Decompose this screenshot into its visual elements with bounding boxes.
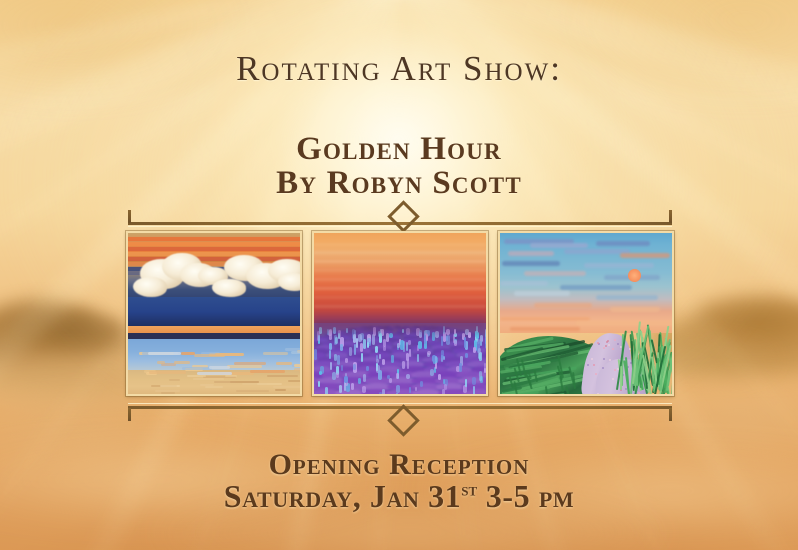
artwork-detail: [375, 346, 378, 352]
artwork-detail: [314, 296, 486, 299]
artwork-detail: [349, 347, 352, 356]
artwork-detail: [362, 386, 365, 393]
artwork-detail: [341, 365, 343, 371]
artwork-title: Golden Hour: [0, 131, 798, 168]
artwork-detail: [128, 242, 300, 246]
reception-time: 3-5 pm: [477, 478, 574, 514]
artwork-detail: [372, 334, 375, 345]
artwork-detail: [314, 251, 486, 254]
reception-heading: Opening Reception: [0, 448, 798, 482]
artwork-detail: [314, 305, 486, 308]
frame-tick-top-right: [669, 210, 672, 223]
artwork-detail: [332, 372, 336, 380]
frame-tick-bottom-left: [128, 408, 131, 421]
artwork-detail: [275, 389, 286, 391]
artwork-detail: [161, 392, 175, 394]
poster: Rotating Art Show: Golden Hour By Robyn …: [0, 0, 798, 550]
artwork-detail: [382, 389, 385, 394]
artwork-detail: [329, 343, 332, 350]
artwork-triptych: [126, 231, 674, 396]
artwork-panel-dune-path[interactable]: [498, 231, 674, 396]
artwork-detail: [314, 260, 486, 263]
artwork-detail: [620, 253, 670, 258]
artwork-detail: [530, 243, 588, 248]
reception-date-pre: Saturday, Jan 31: [224, 478, 462, 514]
artwork-detail: [408, 340, 411, 344]
artwork-detail: [597, 342, 599, 344]
artwork-detail: [340, 344, 343, 351]
artwork-detail: [472, 377, 476, 385]
artwork-detail: [480, 341, 482, 346]
artwork-detail: [335, 337, 337, 344]
artwork-detail: [424, 335, 426, 344]
artwork-detail: [182, 367, 212, 370]
artwork-detail: [484, 363, 486, 371]
artwork-detail: [396, 393, 399, 394]
artwork-detail: [608, 344, 610, 346]
artwork-detail: [314, 243, 486, 246]
artwork-detail: [148, 352, 182, 355]
reception-date-ordinal: st: [461, 479, 477, 499]
artwork-detail: [314, 269, 486, 272]
artwork-detail: [609, 359, 611, 361]
artwork-detail: [576, 321, 672, 325]
artwork-detail: [234, 362, 266, 365]
artwork-detail: [344, 376, 347, 383]
artwork-detail: [314, 321, 486, 335]
artwork-detail: [314, 278, 486, 281]
artwork-detail: [351, 383, 354, 390]
artwork-detail: [276, 362, 292, 365]
artwork-detail: [508, 251, 554, 256]
artwork-detail: [406, 353, 409, 361]
artwork-detail: [502, 261, 560, 266]
frame-tick-bottom-right: [669, 408, 672, 421]
artwork-detail: [378, 370, 382, 379]
artwork-detail: [157, 361, 165, 364]
artwork-detail: [441, 336, 443, 346]
artwork-detail: [396, 385, 400, 392]
artwork-detail: [314, 349, 317, 360]
artwork-detail: [628, 269, 641, 282]
artwork-detail: [510, 327, 580, 331]
artwork-detail: [620, 366, 622, 390]
artwork-detail: [361, 353, 363, 362]
artwork-detail: [242, 383, 267, 385]
artwork-detail: [383, 346, 386, 351]
artwork-detail: [514, 291, 570, 296]
artwork-detail: [212, 279, 246, 297]
artwork-detail: [597, 393, 599, 394]
artwork-detail: [367, 342, 369, 348]
artist-name: By Robyn Scott: [0, 165, 798, 202]
artwork-detail: [473, 347, 476, 353]
artwork-detail: [382, 359, 385, 365]
frame-rule-bottom-highlight: [128, 403, 672, 404]
artwork-detail: [215, 353, 240, 356]
artwork-detail: [236, 390, 269, 392]
artwork-detail: [409, 349, 411, 357]
artwork-detail: [442, 389, 445, 394]
artwork-detail: [251, 359, 265, 362]
artwork-detail: [353, 334, 356, 343]
artwork-detail: [400, 340, 404, 349]
artwork-detail: [465, 353, 467, 358]
artwork-detail: [420, 381, 424, 387]
artwork-detail: [330, 362, 332, 370]
artwork-detail: [606, 341, 608, 343]
artwork-detail: [288, 380, 300, 382]
artwork-detail: [438, 374, 440, 381]
artwork-detail: [209, 366, 230, 369]
artwork-detail: [417, 354, 420, 363]
artwork-detail: [443, 379, 445, 384]
artwork-panel-lavender-field[interactable]: [312, 231, 488, 396]
artwork-detail: [181, 352, 195, 355]
artwork-detail: [225, 375, 237, 377]
artwork-detail: [464, 337, 467, 348]
artwork-detail: [595, 373, 597, 375]
artwork-detail: [465, 379, 467, 386]
artwork-detail: [473, 386, 475, 394]
artwork-detail: [610, 307, 660, 312]
artwork-detail: [214, 381, 236, 383]
artwork-detail: [478, 353, 481, 359]
artwork-detail: [227, 365, 262, 368]
artwork-detail: [446, 335, 450, 345]
frame-tick-top-left: [128, 210, 131, 223]
artwork-detail: [314, 287, 486, 290]
artwork-detail: [193, 378, 224, 380]
artwork-detail: [454, 340, 457, 346]
artwork-detail: [605, 345, 607, 347]
artwork-detail: [459, 363, 461, 372]
artwork-detail: [358, 334, 361, 342]
page-title: Rotating Art Show:: [0, 49, 798, 89]
artwork-detail: [345, 358, 348, 363]
artwork-detail: [128, 252, 300, 256]
artwork-detail: [560, 285, 632, 290]
artwork-detail: [329, 350, 331, 359]
artwork-image-dune-path: [500, 233, 672, 394]
artwork-detail: [379, 354, 381, 360]
artwork-detail: [602, 367, 604, 369]
artwork-detail: [133, 277, 167, 297]
artwork-detail: [617, 343, 619, 345]
artwork-detail: [614, 339, 616, 341]
artwork-detail: [418, 341, 422, 349]
artwork-detail: [273, 386, 300, 388]
artwork-detail: [337, 355, 341, 365]
artwork-detail: [524, 271, 586, 276]
artwork-detail: [325, 387, 328, 394]
artwork-detail: [396, 373, 399, 379]
artwork-image-seascape-sunset: [128, 233, 300, 394]
artwork-detail: [534, 303, 592, 308]
artwork-detail: [267, 375, 298, 377]
artwork-detail: [596, 241, 650, 246]
artwork-detail: [160, 385, 179, 387]
artwork-detail: [128, 247, 300, 251]
artwork-detail: [478, 348, 481, 354]
artwork-detail: [363, 339, 366, 349]
artwork-detail: [291, 351, 300, 354]
artwork-detail: [406, 374, 410, 379]
artwork-detail: [363, 374, 366, 382]
artwork-detail: [294, 364, 300, 367]
artwork-panel-seascape-sunset[interactable]: [126, 231, 302, 396]
artwork-detail: [353, 364, 356, 370]
artwork-detail: [500, 281, 548, 286]
artwork-detail: [485, 339, 486, 349]
artwork-detail: [128, 237, 300, 241]
reception-datetime: Saturday, Jan 31st 3-5 pm: [0, 478, 798, 515]
artwork-detail: [402, 361, 405, 369]
artwork-detail: [593, 364, 595, 366]
artwork-detail: [149, 371, 185, 374]
artwork-detail: [263, 352, 288, 355]
artwork-image-lavender-field: [314, 233, 486, 394]
artwork-detail: [366, 366, 369, 371]
artwork-detail: [250, 370, 285, 373]
artwork-detail: [354, 344, 356, 355]
artwork-detail: [584, 263, 654, 268]
artwork-detail: [596, 295, 658, 300]
artwork-detail: [479, 371, 482, 381]
